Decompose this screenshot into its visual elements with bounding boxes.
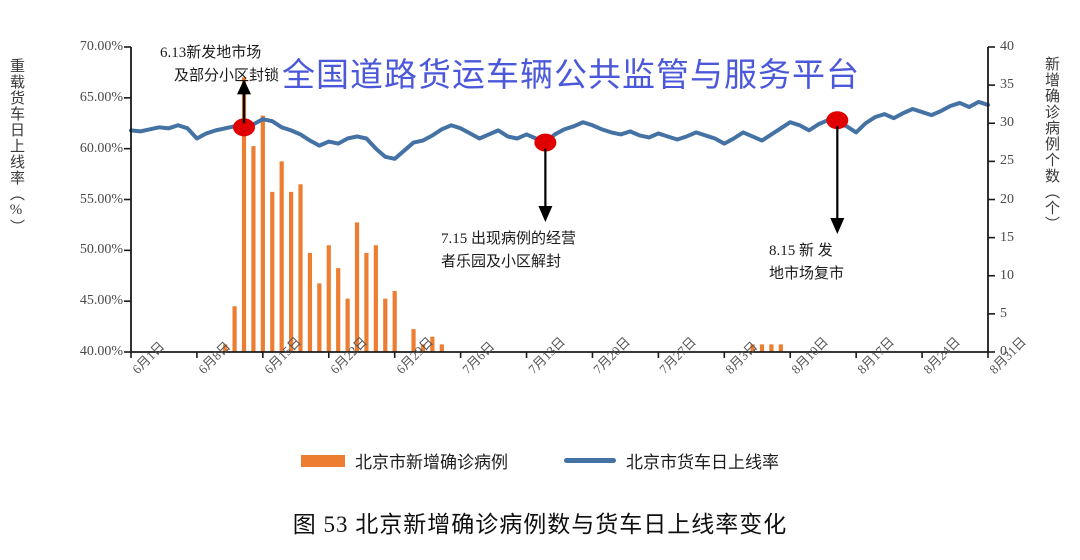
annotation-815: 8.15 新 发 地市场复市 (769, 240, 844, 285)
bar-series (223, 78, 783, 353)
legend-label-online-rate: 北京市货车日上线率 (626, 448, 779, 473)
legend-item-online-rate: 北京市货车日上线率 (564, 448, 779, 473)
right-tick-label: 40 (1000, 39, 1034, 55)
annotation-arrow (538, 149, 552, 222)
bar (769, 344, 773, 352)
bar (308, 253, 312, 352)
right-tick-label: 35 (1000, 77, 1034, 93)
line-series (131, 102, 988, 159)
bar (280, 161, 284, 352)
bar (760, 344, 764, 352)
bar (393, 291, 397, 352)
legend-label-cases: 北京市新增确诊病例 (355, 448, 508, 473)
annotation-613-line2: 及部分小区封锁 (160, 65, 279, 88)
right-tick-label: 20 (1000, 192, 1034, 208)
bar (261, 116, 265, 352)
left-tick-label: 70.00% (33, 39, 123, 55)
left-tick-label: 55.00% (33, 192, 123, 208)
legend-line-swatch-icon (564, 458, 616, 463)
annotation-815-line2: 地市场复市 (769, 263, 844, 286)
bar (298, 184, 302, 352)
right-tick-label: 30 (1000, 115, 1034, 131)
event-markers (233, 111, 848, 151)
annotation-715: 7.15 出现病例的经营 者乐园及小区解封 (441, 228, 576, 273)
bar (232, 306, 236, 352)
bar (364, 253, 368, 352)
annotation-715-line1: 7.15 出现病例的经营 (441, 231, 576, 247)
annotation-715-line2: 者乐园及小区解封 (441, 251, 576, 274)
annotation-613-line1: 6.13新发地市场 (160, 45, 261, 61)
bar (327, 245, 331, 352)
right-tick-label: 25 (1000, 153, 1034, 169)
left-tick-label: 60.00% (33, 141, 123, 157)
bar (779, 344, 783, 352)
bar (336, 268, 340, 352)
left-tick-label: 45.00% (33, 293, 123, 309)
legend-bar-swatch-icon (301, 455, 345, 467)
figure-caption: 图 53 北京新增确诊病例数与货车日上线率变化 (0, 505, 1080, 539)
annotation-815-line1: 8.15 新 发 (769, 243, 833, 259)
right-tick-label: 5 (1000, 306, 1034, 322)
annotation-613: 6.13新发地市场 及部分小区封锁 (160, 42, 279, 87)
bar (289, 192, 293, 352)
bar (251, 146, 255, 352)
chart-legend: 北京市新增确诊病例 北京市货车日上线率 (0, 448, 1080, 473)
online-rate-line (131, 102, 988, 159)
watermark-text: 全国道路货运车辆公共监管与服务平台 (282, 48, 860, 96)
left-tick-label: 50.00% (33, 242, 123, 258)
left-tick-label: 40.00% (33, 344, 123, 360)
annotation-arrow (830, 126, 844, 234)
left-tick-label: 65.00% (33, 90, 123, 106)
annotation-arrows (237, 79, 844, 234)
right-tick-label: 10 (1000, 268, 1034, 284)
bar (440, 344, 444, 352)
bar (374, 245, 378, 352)
chart-figure: 重载货车日上线率（%） 新增确诊病例个数（个） 70.00%65.00%60.0… (0, 0, 1080, 560)
bar (317, 283, 321, 352)
bar (270, 192, 274, 352)
legend-item-cases: 北京市新增确诊病例 (301, 448, 508, 473)
right-tick-label: 15 (1000, 230, 1034, 246)
bar (383, 299, 387, 352)
